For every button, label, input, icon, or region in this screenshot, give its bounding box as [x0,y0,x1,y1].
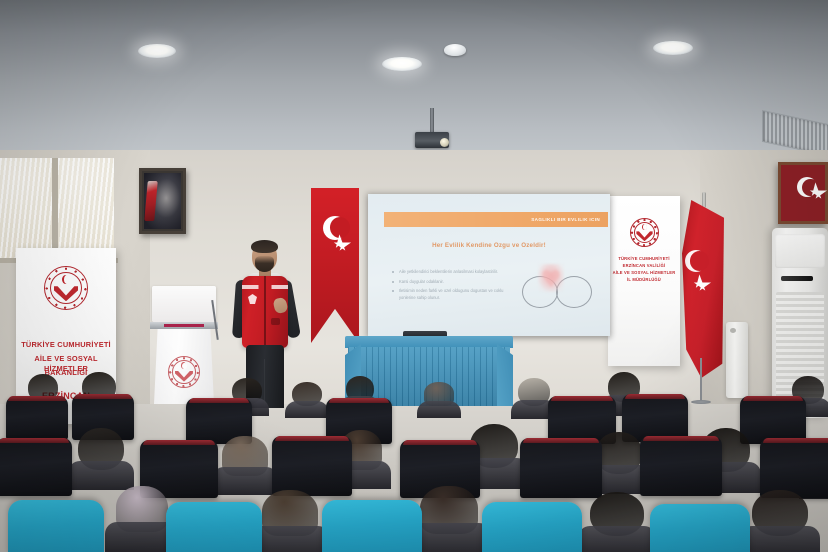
audience-member [78,428,124,470]
emblem-crescent [62,275,69,285]
ceiling-downlight [138,44,176,58]
presenter-beard [255,256,274,272]
vest-emblem-icon [248,294,257,304]
vest-pocket [271,318,280,325]
audience-member [116,486,168,532]
right-banner-line3: AİLE VE SOSYAL HİZMETLER [608,270,680,276]
slide-graphic-infinity-heart [516,260,600,318]
slide-bullet-item: Iletisimin neden farkli ve ozel oldugunu… [392,287,518,301]
shoulders [285,401,328,418]
curtain-left [0,158,52,262]
audience-member [590,492,644,536]
right-banner-line2: ERZİNCAN VALİLİĞİ [608,263,680,269]
auditorium-seat [0,438,72,496]
framed-flag-picture [778,162,828,224]
portrait-flag-detail [144,181,157,221]
projector-pole [430,108,434,134]
slide-content: SAGLIKLI BIR EVLILIK ICIN Her Evlilik Ke… [368,194,610,336]
audience-member [262,490,318,536]
lectern-accent-stripe [164,324,204,327]
portrait-frame [139,168,186,234]
conference-hall-scene: TÜRKİYE CUMHURİYETİ AİLE VE SOSYAL HİZME… [0,0,828,552]
auditorium-seat-teal [482,502,582,552]
left-banner-line1: TÜRKİYE CUMHURİYETİ [16,340,116,350]
auditorium-seat-teal [166,502,262,552]
ceiling-downlight [382,57,422,71]
turkish-flag-on-pole [682,192,724,382]
audience-member [424,382,454,406]
flag-hook [702,192,706,208]
slide-bullet-item: Aile yetkilendirici beklentilerin anlasi… [392,268,518,275]
crescent-icon [685,250,707,272]
table-cloth-drape-right [497,344,513,406]
emblem-crescent [181,362,186,369]
right-banner-line1: TÜRKİYE CUMHURİYETİ [608,256,680,262]
shoulders [417,401,460,418]
floor-microphone-stand [700,358,702,402]
auditorium-seat [6,396,68,440]
slide-bullet-item: Karsi duygular odaklanir. [392,278,518,285]
projector-icon [412,108,452,152]
ac-top-panel [775,234,825,268]
emblem-stars [45,267,86,308]
auditorium-seat-teal [8,500,104,552]
shoulders [578,526,656,552]
audience-member [292,382,322,406]
slide-header-text: SAGLIKLI BIR EVLILIK ICIN [531,217,600,222]
auditorium-seat-teal [650,504,750,552]
projector-lens [440,138,449,147]
audience-member [596,432,642,474]
emblem-crescent [642,224,647,230]
projection-screen: SAGLIKLI BIR EVLILIK ICIN Her Evlilik Ke… [368,194,610,336]
auditorium-seat [760,438,828,498]
vest-zipper [264,276,266,348]
rollup-banner-provincial: TÜRKİYE CUMHURİYETİ ERZİNCAN VALİLİĞİ Aİ… [608,196,680,366]
shoulders [740,526,821,552]
slide-header-bar: SAGLIKLI BIR EVLILIK ICIN [384,212,608,227]
right-banner-line4: İL MÜDÜRLÜĞÜ [608,277,680,283]
slide-title: Her Evlilik Kendine Ozgu ve Ozeldir! [368,242,610,249]
ceiling-downlight [653,41,693,55]
presenter-hair [251,240,278,253]
lectern-top [152,286,216,322]
ministry-emblem-icon [630,218,659,247]
auditorium-seat [640,436,722,496]
audience-member [222,436,268,476]
star-icon [333,239,347,251]
auditorium-seat [520,438,602,498]
lectern [150,286,218,404]
ministry-emblem-icon [168,356,200,388]
auditorium-seat [272,436,352,496]
curtain-right [58,158,114,262]
auditorium-seat-teal [322,500,422,552]
ac-display-slot [781,276,813,281]
fingerprint-heart-icon [538,264,564,292]
audience-member [518,378,550,406]
window-mullion [52,158,58,262]
audience-member [752,490,808,536]
ministry-emblem-icon [44,266,88,310]
flag-cloth [682,200,724,378]
smoke-detector-icon [444,44,466,56]
audience-member [420,486,478,534]
star-icon [694,278,708,290]
portrait-image [144,173,181,229]
radiator [726,322,748,398]
slide-bullet-list: Aile yetkilendirici beklentilerin anlasi… [392,268,518,304]
window-group [0,158,118,262]
